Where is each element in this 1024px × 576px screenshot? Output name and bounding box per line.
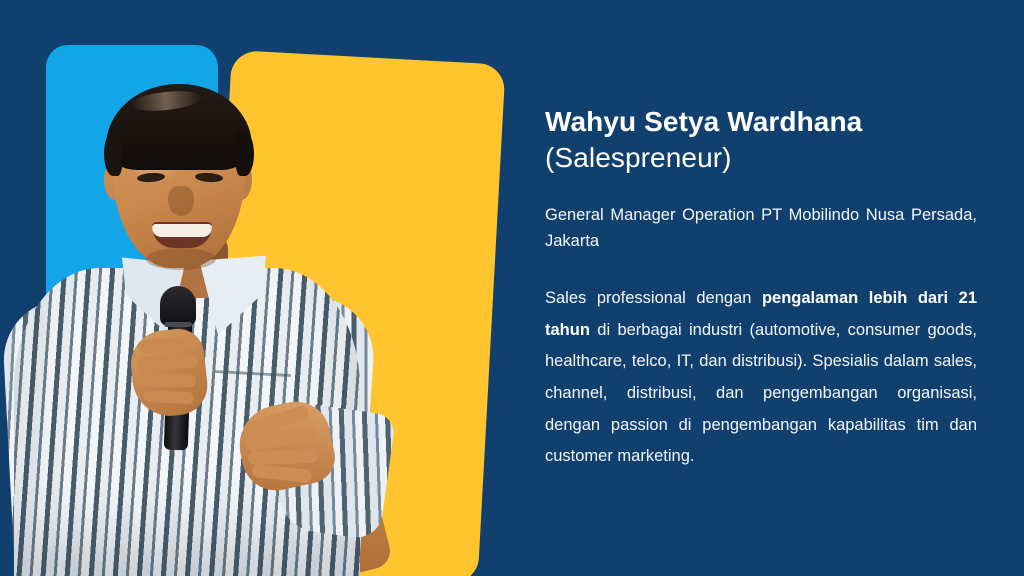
speaker-name: Wahyu Setya Wardhana bbox=[545, 104, 977, 140]
sideburn-right bbox=[236, 132, 254, 176]
bio-text-before: Sales professional dengan bbox=[545, 289, 762, 307]
speaker-profile-slide: Wahyu Setya Wardhana (Salespreneur) Gene… bbox=[0, 0, 1024, 576]
speaker-role: General Manager Operation PT Mobilindo N… bbox=[545, 202, 977, 255]
speaker-text-column: Wahyu Setya Wardhana (Salespreneur) Gene… bbox=[545, 104, 977, 473]
finger-left-2 bbox=[138, 355, 198, 370]
bio-text-after: di berbagai industri (automotive, consum… bbox=[545, 321, 977, 466]
microphone-ring bbox=[164, 322, 192, 327]
finger-left-4 bbox=[144, 390, 195, 405]
teeth bbox=[152, 224, 212, 237]
sideburn-left bbox=[104, 132, 122, 176]
speaker-photo-panel bbox=[0, 0, 520, 576]
speaker-bio: Sales professional dengan pengalaman leb… bbox=[545, 283, 977, 473]
finger-right-3 bbox=[248, 449, 318, 465]
nose bbox=[168, 186, 194, 216]
finger-left-3 bbox=[140, 374, 196, 388]
speaker-portrait bbox=[0, 0, 520, 576]
speaker-epithet: (Salespreneur) bbox=[545, 140, 977, 176]
microphone-head bbox=[160, 286, 196, 326]
chin-shadow bbox=[146, 248, 216, 270]
